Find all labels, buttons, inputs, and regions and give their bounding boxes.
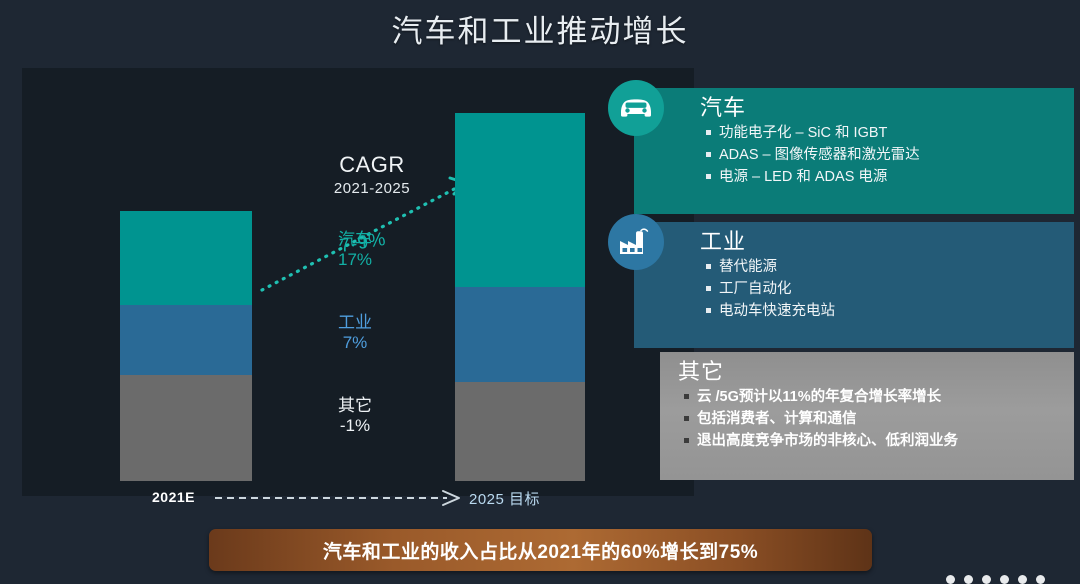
bar-segment-automotive <box>120 211 252 305</box>
segment-value: -1% <box>295 416 415 436</box>
callout-other[interactable]: 其它 云 /5G预计以11%的年复合增长率增长 包括消费者、计算和通信 退出高度… <box>660 352 1074 480</box>
bar-segment-automotive <box>455 113 585 287</box>
bar-segment-industrial <box>455 287 585 382</box>
bar-segment-industrial <box>120 305 252 375</box>
car-icon <box>608 80 664 136</box>
page-dot <box>1018 575 1027 584</box>
segment-label-other: 其它 -1% <box>295 396 415 436</box>
page-title: 汽车和工业推动增长 <box>0 6 1080 51</box>
bar-segment-other <box>120 375 252 481</box>
segment-name: 工业 <box>295 313 415 333</box>
callout-heading: 其它 <box>678 360 1074 384</box>
callout-automotive[interactable]: 汽车 功能电子化 – SiC 和 IGBT ADAS – 图像传感器和激光雷达 … <box>634 88 1074 214</box>
callout-bullet-list: 云 /5G预计以11%的年复合增长率增长 包括消费者、计算和通信 退出高度竞争市… <box>660 386 1074 452</box>
axis-progress-arrow-icon <box>215 488 465 508</box>
callout-bullet: 功能电子化 – SiC 和 IGBT <box>706 122 1064 144</box>
bar-2021e[interactable] <box>120 211 252 481</box>
cagr-period: 2021-2025 <box>287 180 457 197</box>
callout-bullet: 退出高度竞争市场的非核心、低利润业务 <box>684 430 1064 452</box>
callout-bullet-list: 功能电子化 – SiC 和 IGBT ADAS – 图像传感器和激光雷达 电源 … <box>634 122 1074 188</box>
segment-value: 7% <box>295 333 415 353</box>
segment-name: 其它 <box>295 396 415 416</box>
callout-bullet: 工厂自动化 <box>706 278 1064 300</box>
segment-label-automotive: 汽车 17% <box>295 230 415 270</box>
callout-industrial[interactable]: 工业 替代能源 工厂自动化 电动车快速充电站 <box>634 222 1074 348</box>
page-dot <box>946 575 955 584</box>
callout-heading: 汽车 <box>700 96 1074 120</box>
cagr-heading-block: CAGR 2021-2025 <box>287 152 457 197</box>
callout-bullet-list: 替代能源 工厂自动化 电动车快速充电站 <box>634 256 1074 322</box>
callout-bullet: 电动车快速充电站 <box>706 300 1064 322</box>
summary-banner: 汽车和工业的收入占比从2021年的60%增长到75% <box>209 529 872 571</box>
page-dot <box>1000 575 1009 584</box>
callout-heading: 工业 <box>700 230 1074 254</box>
segment-name: 汽车 <box>295 230 415 250</box>
page-indicator-dots <box>946 575 1045 584</box>
page-dot <box>982 575 991 584</box>
callout-bullet: 替代能源 <box>706 256 1064 278</box>
page-dot <box>1036 575 1045 584</box>
axis-label-2021e: 2021E <box>152 489 195 505</box>
cagr-title: CAGR <box>287 152 457 178</box>
callout-bullet: 包括消费者、计算和通信 <box>684 408 1064 430</box>
summary-banner-text: 汽车和工业的收入占比从2021年的60%增长到75% <box>323 537 758 564</box>
axis-label-2025-target: 2025 目标 <box>469 488 540 509</box>
page-dot <box>964 575 973 584</box>
callout-bullet: ADAS – 图像传感器和激光雷达 <box>706 144 1064 166</box>
segment-value: 17% <box>295 250 415 270</box>
slide-canvas: 汽车和工业推动增长 CAGR 2021-2025 7-9% 汽车 17% 工业 … <box>0 0 1080 584</box>
factory-icon <box>608 214 664 270</box>
callout-bullet: 云 /5G预计以11%的年复合增长率增长 <box>684 386 1064 408</box>
bar-segment-other <box>455 382 585 481</box>
segment-label-industrial: 工业 7% <box>295 313 415 353</box>
callout-bullet: 电源 – LED 和 ADAS 电源 <box>706 166 1064 188</box>
bar-2025-target[interactable] <box>455 113 585 481</box>
